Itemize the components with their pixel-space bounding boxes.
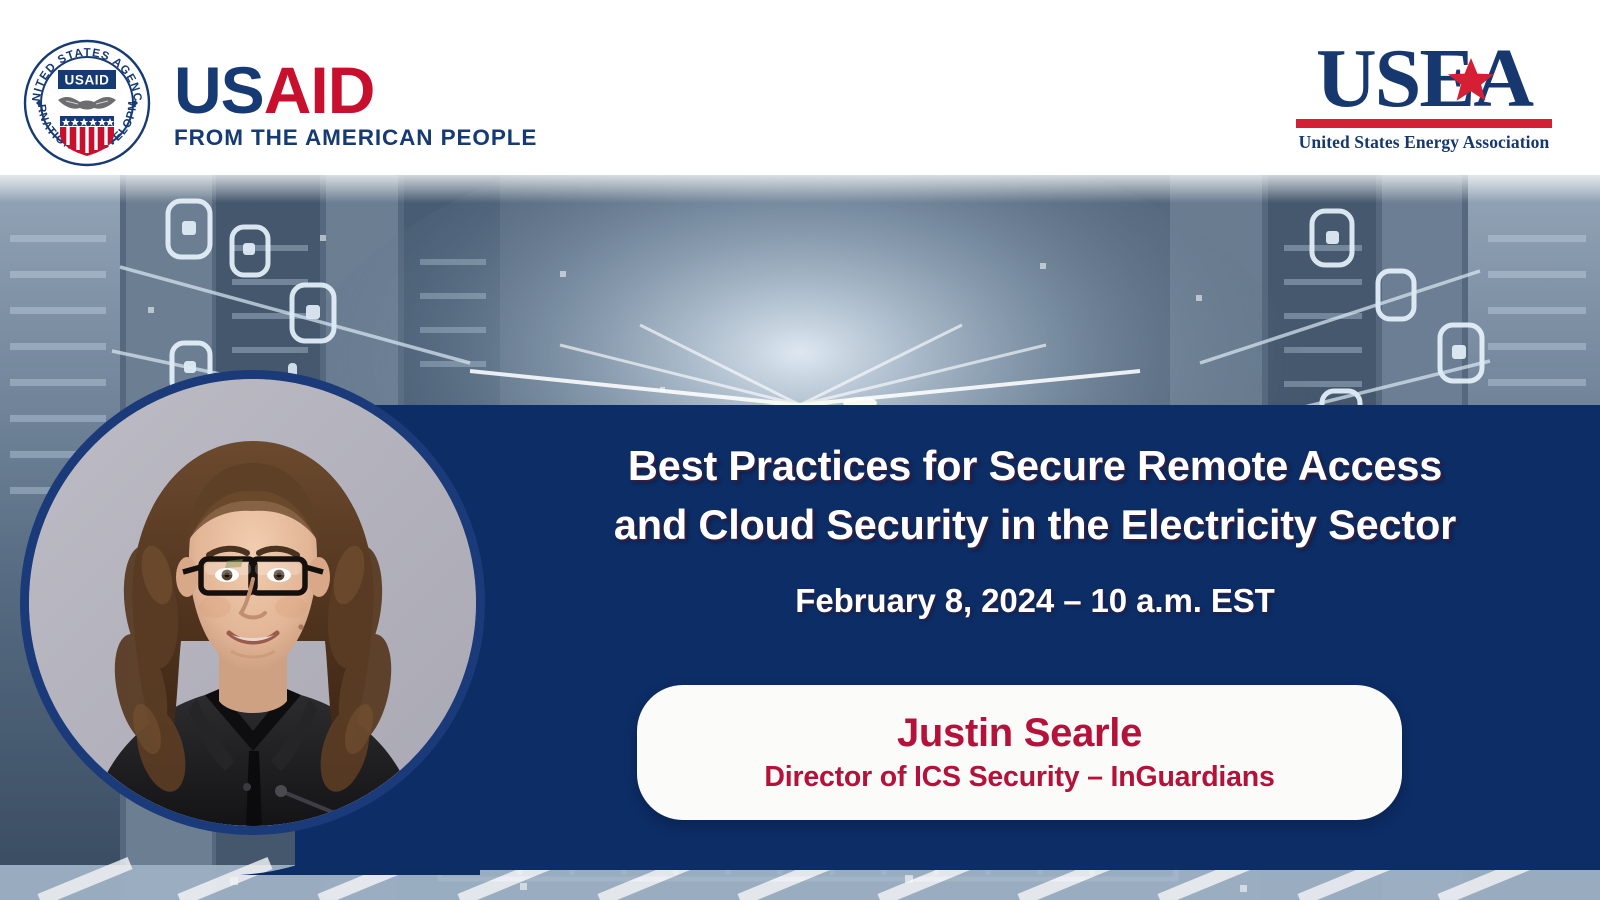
usaid-wordmark-aid: AID bbox=[264, 53, 375, 127]
speaker-role: Director of ICS Security – InGuardians bbox=[764, 760, 1274, 794]
svg-text:USEA: USEA bbox=[1316, 40, 1534, 118]
title-line-2: and Cloud Security in the Electricity Se… bbox=[505, 496, 1565, 555]
webinar-announcement-slide: Best Practices for Secure Remote Access … bbox=[0, 0, 1600, 900]
panel-content: Best Practices for Secure Remote Access … bbox=[295, 405, 1600, 870]
usaid-wordmark-us: US bbox=[174, 53, 264, 127]
svg-text:USAID: USAID bbox=[64, 73, 109, 88]
usea-subtitle: United States Energy Association bbox=[1296, 132, 1552, 153]
speaker-card: Justin Searle Director of ICS Security –… bbox=[637, 685, 1402, 820]
page-title: Best Practices for Secure Remote Access … bbox=[505, 437, 1565, 555]
usea-logo: USEA United States Energy Association bbox=[1296, 40, 1552, 153]
speaker-name: Justin Searle bbox=[897, 711, 1142, 756]
usaid-wordmark: USAID FROM THE AMERICAN PEOPLE bbox=[174, 59, 537, 152]
title-line-1: Best Practices for Secure Remote Access bbox=[505, 437, 1565, 496]
usea-wordmark: USEA bbox=[1296, 40, 1552, 118]
usaid-tagline: FROM THE AMERICAN PEOPLE bbox=[174, 125, 537, 151]
logo-header: UNITED STATES AGENCY INTERNATIONAL DEVEL… bbox=[0, 0, 1600, 175]
usaid-logo: UNITED STATES AGENCY INTERNATIONAL DEVEL… bbox=[22, 38, 537, 168]
speaker-portrait bbox=[20, 370, 485, 835]
usaid-seal-icon: UNITED STATES AGENCY INTERNATIONAL DEVEL… bbox=[22, 38, 152, 168]
event-datetime: February 8, 2024 – 10 a.m. EST bbox=[505, 582, 1565, 620]
usea-red-bar bbox=[1296, 119, 1552, 128]
